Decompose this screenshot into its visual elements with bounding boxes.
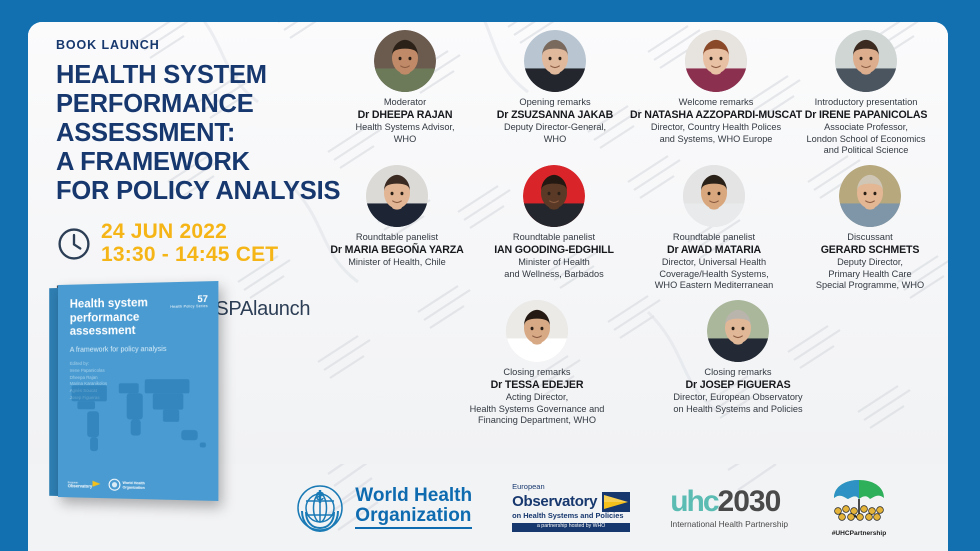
speaker-role: Discussant (760, 232, 980, 244)
who-line-1: World Health (355, 485, 472, 506)
logo-who: World Health Organization (293, 481, 472, 535)
uhc2030-mark-2: 2030 (718, 487, 781, 517)
avatar-photo (366, 165, 428, 227)
speaker-affiliation-line: London School of Economics (756, 134, 976, 146)
speaker-name: Dr TESSA EDEJER (427, 379, 647, 393)
date-time: 24 JUN 2022 13:30 - 14:45 CET (101, 221, 278, 266)
partner-logos: World Health Organization European Obser… (28, 464, 948, 551)
book-series-number: 57 Health Policy Series (170, 294, 208, 310)
speaker-affiliation-line: Associate Professor, (756, 122, 976, 134)
title-line-5: FOR POLICY ANALYSIS (56, 177, 356, 206)
speaker-name: GERARD SCHMETS (760, 244, 980, 258)
speaker-name: Dr JOSEP FIGUERAS (628, 379, 848, 393)
speaker-card-gerard-schmets: Discussant GERARD SCHMETS Deputy Directo… (760, 165, 980, 292)
event-date: 24 JUN 2022 (101, 221, 278, 244)
speaker-name: Dr IRENE PAPANICOLAS (756, 109, 976, 123)
logo-uhc2030: uhc 2030 International Health Partnershi… (670, 487, 788, 529)
book-series-label: Health Policy Series (170, 304, 208, 309)
speaker-affiliation-line: Health Systems Governance and (427, 404, 647, 416)
speaker-affiliation-line: Acting Director, (427, 392, 647, 404)
speaker-affiliation-line: Director, European Observatory (628, 392, 848, 404)
speaker-affiliation-line: Financing Department, WHO (427, 415, 647, 427)
avatar-photo (524, 30, 586, 92)
observatory-line-4: a partnership hosted by WHO (512, 523, 630, 532)
speaker-affiliation-line: on Health Systems and Policies (628, 404, 848, 416)
event-time: 13:30 - 14:45 CET (101, 244, 278, 267)
uhc2030-tagline: International Health Partnership (670, 519, 788, 529)
frame-top (0, 0, 980, 22)
avatar-photo (683, 165, 745, 227)
speaker-avatar (835, 30, 897, 92)
who-wordmark: World Health Organization (355, 486, 472, 529)
book-number: 57 (197, 294, 207, 305)
logo-uhc-partnership: #UHCPartnership (828, 478, 890, 537)
book-subtitle: A framework for policy analysis (70, 346, 191, 354)
speaker-avatar (366, 165, 428, 227)
clock-icon (56, 226, 92, 262)
title-line-1: HEALTH SYSTEM (56, 61, 356, 90)
speaker-card-irene-papanicolas: Introductory presentation Dr IRENE PAPAN… (756, 30, 976, 157)
observatory-line-1: European (512, 483, 630, 492)
avatar-photo (506, 300, 568, 362)
uhc2030-mark-1: uhc (670, 487, 717, 517)
observatory-mark-icon (602, 492, 630, 512)
who-line-2: Organization (355, 506, 472, 529)
speaker-affiliation-line: Special Programme, WHO (760, 280, 980, 292)
speaker-avatar (524, 30, 586, 92)
uhc-partnership-tagline: #UHCPartnership (828, 530, 890, 537)
datetime-block: 24 JUN 2022 13:30 - 14:45 CET (56, 221, 356, 266)
poster-canvas: BOOK LAUNCH HEALTH SYSTEM PERFORMANCE AS… (0, 0, 980, 551)
speaker-avatar (523, 165, 585, 227)
speaker-affiliation-line: Deputy Director, (760, 257, 980, 269)
speaker-avatar (685, 30, 747, 92)
speaker-card-josep-figueras: Closing remarks Dr JOSEP FIGUERAS Direct… (628, 300, 848, 415)
speaker-role: Closing remarks (628, 367, 848, 379)
title-line-2: PERFORMANCE (56, 90, 356, 119)
page-title: HEALTH SYSTEM PERFORMANCE ASSESSMENT: A … (56, 61, 356, 206)
avatar-photo (523, 165, 585, 227)
avatar-photo (839, 165, 901, 227)
speaker-avatar (707, 300, 769, 362)
speaker-avatar (839, 165, 901, 227)
speaker-role: Introductory presentation (756, 97, 976, 109)
kicker-label: BOOK LAUNCH (56, 38, 356, 52)
umbrella-people-icon (828, 478, 890, 524)
speaker-avatar (683, 165, 745, 227)
logo-european-observatory: European Observatory on Health Systems a… (512, 483, 630, 531)
observatory-line-3: on Health Systems and Policies (512, 512, 630, 521)
title-line-3: ASSESSMENT: (56, 119, 356, 148)
speaker-avatar (506, 300, 568, 362)
avatar-photo (707, 300, 769, 362)
avatar-photo (685, 30, 747, 92)
avatar-photo (835, 30, 897, 92)
title-line-4: A FRAMEWORK (56, 148, 356, 177)
avatar-photo (374, 30, 436, 92)
speaker-affiliation-line: Primary Health Care (760, 269, 980, 281)
speaker-card-tessa-edejer: Closing remarks Dr TESSA EDEJER Acting D… (427, 300, 647, 427)
who-emblem-icon (293, 481, 347, 535)
world-map-graphic (58, 366, 218, 470)
observatory-line-2: Observatory (512, 493, 597, 510)
book-title: Health system performance assessment (70, 296, 176, 339)
speaker-avatar (374, 30, 436, 92)
speaker-affiliation-line: and Political Science (756, 145, 976, 157)
event-info: BOOK LAUNCH HEALTH SYSTEM PERFORMANCE AS… (56, 38, 356, 321)
speaker-role: Closing remarks (427, 367, 647, 379)
